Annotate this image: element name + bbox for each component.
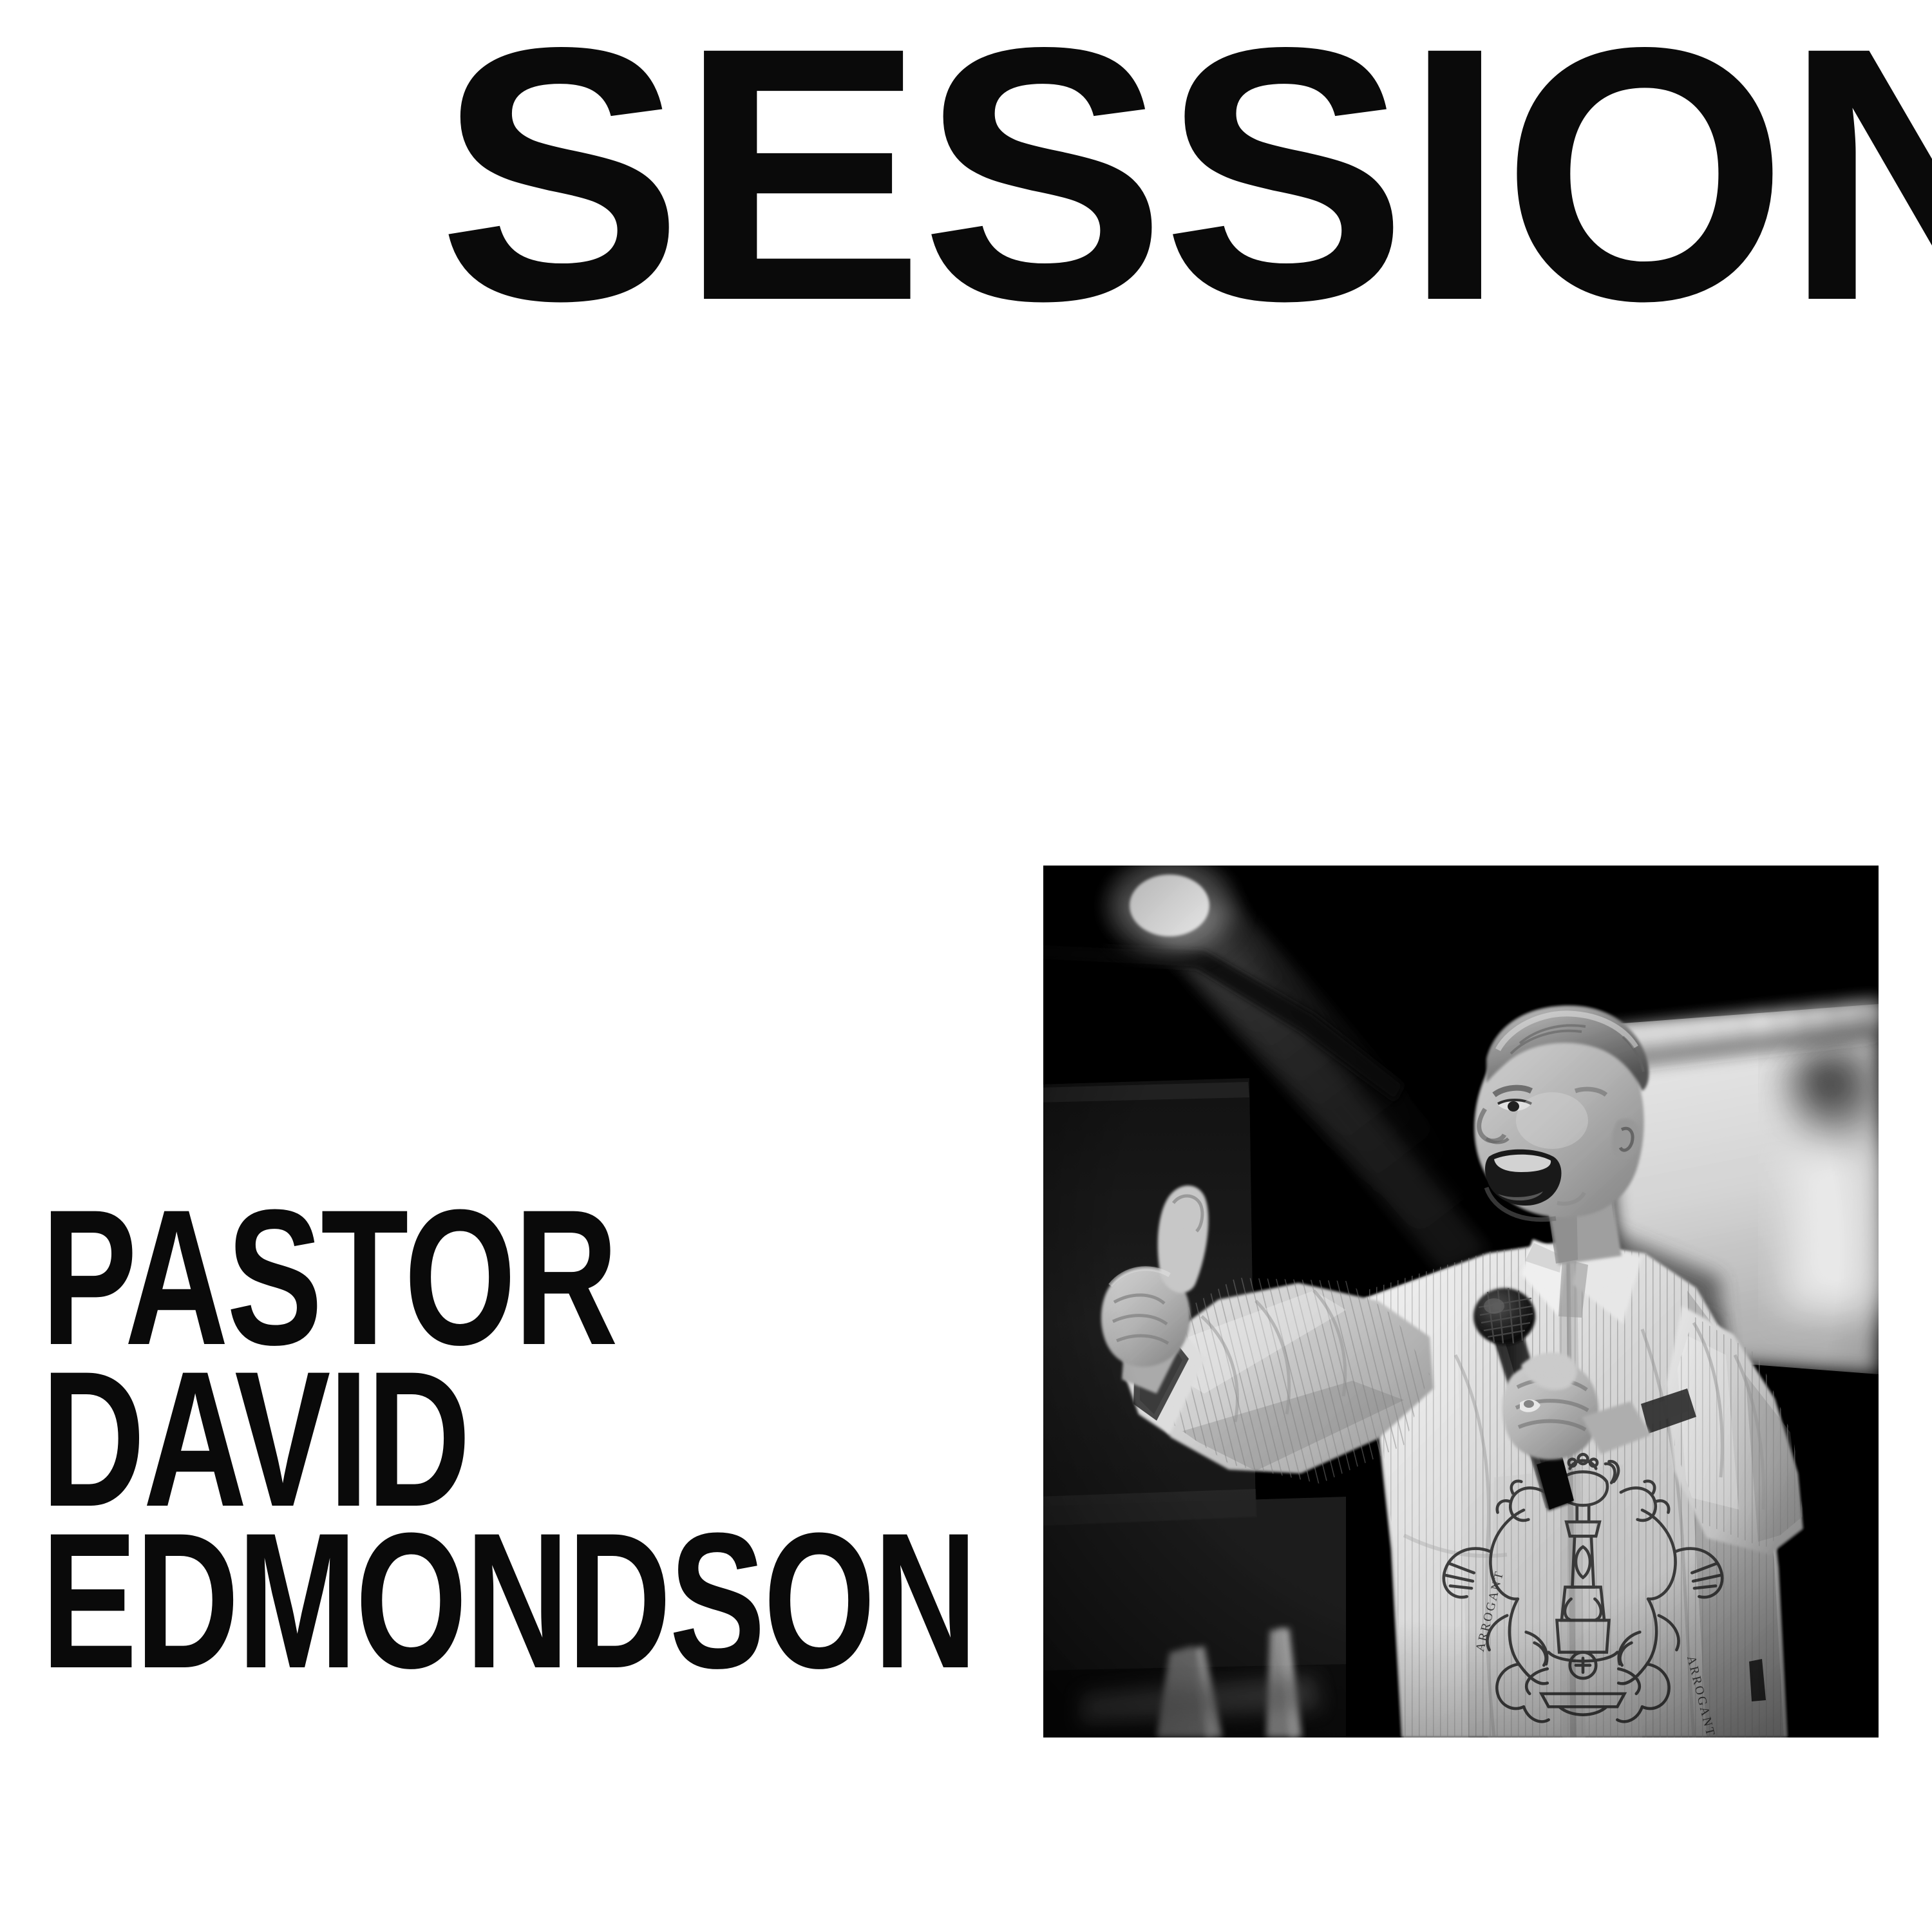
speaker-photo-artwork: ARROGANT ARROGANT [1043, 866, 1879, 1738]
speaker-photo: ARROGANT ARROGANT [1043, 866, 1879, 1738]
photo-vignette [1043, 866, 1879, 1738]
page-title: SESSION 4 [438, 0, 1909, 354]
poster-canvas: SESSION 4 PASTOR DAVID EDMONDSON [0, 0, 1932, 1932]
speaker-last-name-line: EDMONDSON [41, 1520, 780, 1681]
speaker-name-block: PASTOR DAVID EDMONDSON [41, 1197, 1033, 1681]
